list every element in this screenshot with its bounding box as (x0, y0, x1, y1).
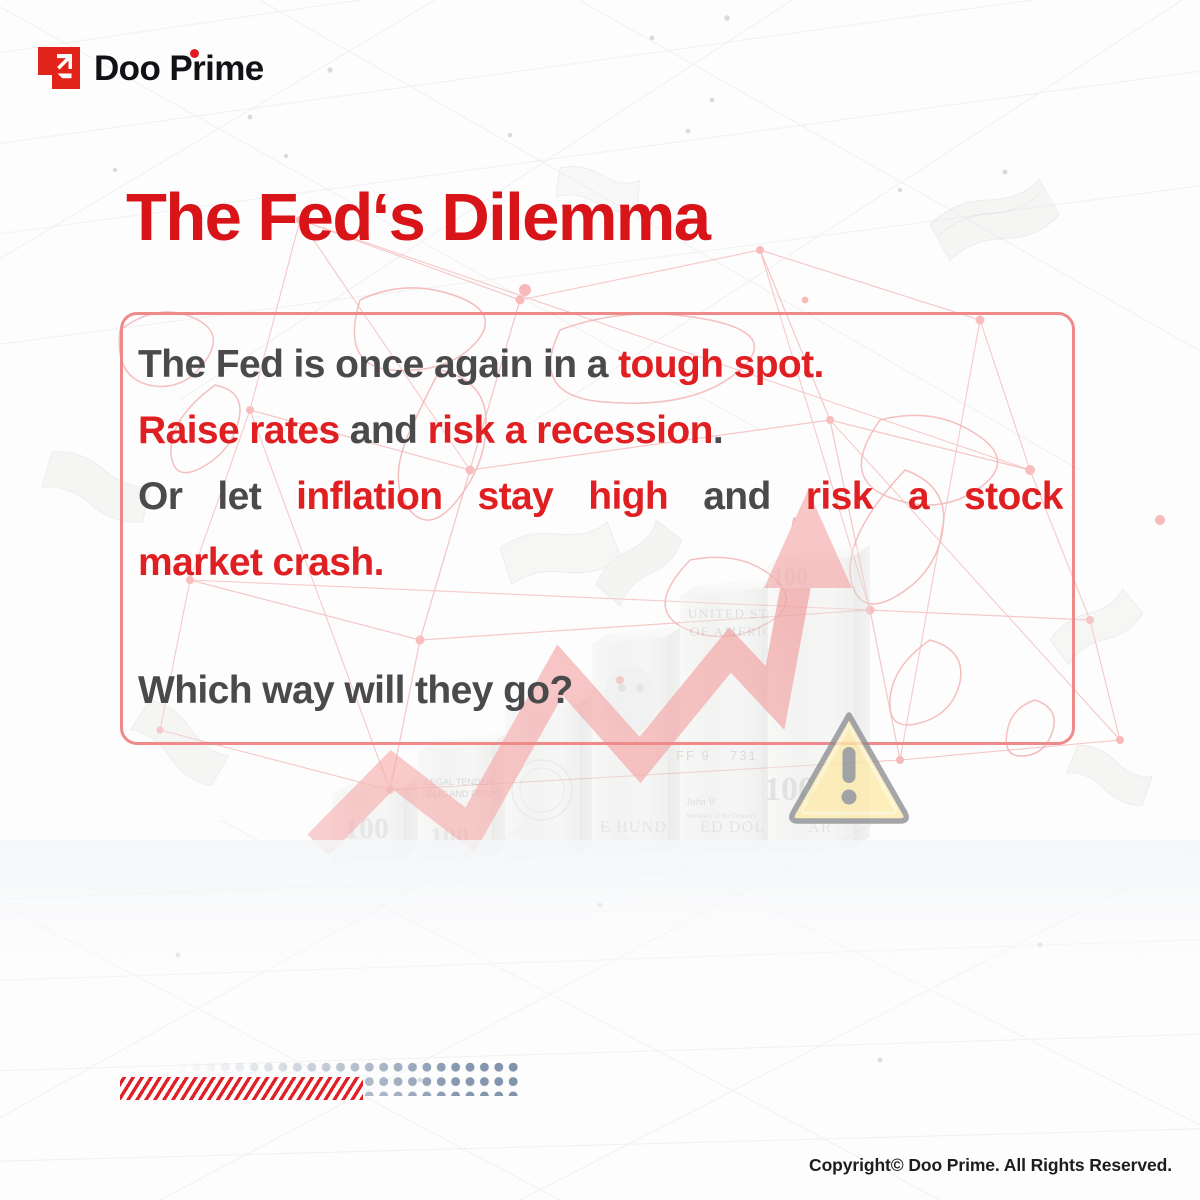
line1-seg2: tough spot. (618, 343, 824, 386)
doo-prime-logo-mark (38, 47, 80, 89)
line2-seg3: risk a recession (428, 409, 713, 452)
svg-text:100: 100 (430, 822, 469, 851)
footer-decoration (120, 1058, 520, 1106)
line2-seg4: . (713, 409, 723, 452)
paragraph-spacer (138, 596, 1066, 658)
body-line-4: market crash. (138, 530, 1066, 596)
svg-text:LEGAL TENDER: LEGAL TENDER (425, 777, 494, 787)
line3-w2: let (217, 464, 261, 530)
brand-wordmark: Doo Prime (94, 51, 264, 86)
svg-text:John W: John W (686, 797, 718, 808)
svg-text:UBLIC AND PRIVAT: UBLIC AND PRIVAT (421, 789, 503, 799)
warning-triangle-icon (789, 709, 909, 824)
line3-w1: Or (138, 464, 182, 530)
page-title: The Fed‘s Dilemma (126, 182, 709, 254)
line3-w9: stock (964, 464, 1063, 530)
svg-text:FF 9: FF 9 (676, 748, 711, 763)
line2-seg1: Raise rates (138, 409, 340, 452)
message-body: The Fed is once again in a tough spot. R… (138, 332, 1066, 724)
svg-text:Secretary of the Treasury: Secretary of the Treasury (686, 812, 757, 820)
svg-text:E HUND: E HUND (600, 819, 667, 836)
copyright-notice: Copyright© Doo Prime. All Rights Reserve… (809, 1155, 1172, 1176)
line3-w3: inflation (296, 464, 442, 530)
line2-seg2: and (340, 409, 428, 452)
closing-question: Which way will they go? (138, 658, 1066, 724)
line1-seg1: The Fed is once again in a (138, 343, 618, 386)
line3-w5: high (588, 464, 668, 530)
svg-text:100: 100 (344, 812, 389, 845)
line3-w4: stay (477, 464, 553, 530)
brand-logo[interactable]: Doo Prime (38, 47, 264, 89)
body-line-2: Raise rates and risk a recession. (138, 398, 1066, 464)
line3-w8: a (908, 464, 929, 530)
body-line-1: The Fed is once again in a tough spot. (138, 332, 1066, 398)
red-stripe-bar (120, 1077, 363, 1100)
wordmark-accent-dot (190, 49, 199, 58)
svg-text:ED DOL: ED DOL (700, 819, 765, 836)
line3-w7: risk (806, 464, 873, 530)
svg-text:731: 731 (730, 748, 758, 763)
body-line-3: Or let inflation stay high and risk a st… (138, 464, 1063, 530)
poster-canvas: 100 LEGAL TENDER UBLIC AND PRIVAT 100 (0, 0, 1200, 1200)
line3-w6: and (703, 464, 771, 530)
line4-seg1: market crash. (138, 541, 384, 584)
